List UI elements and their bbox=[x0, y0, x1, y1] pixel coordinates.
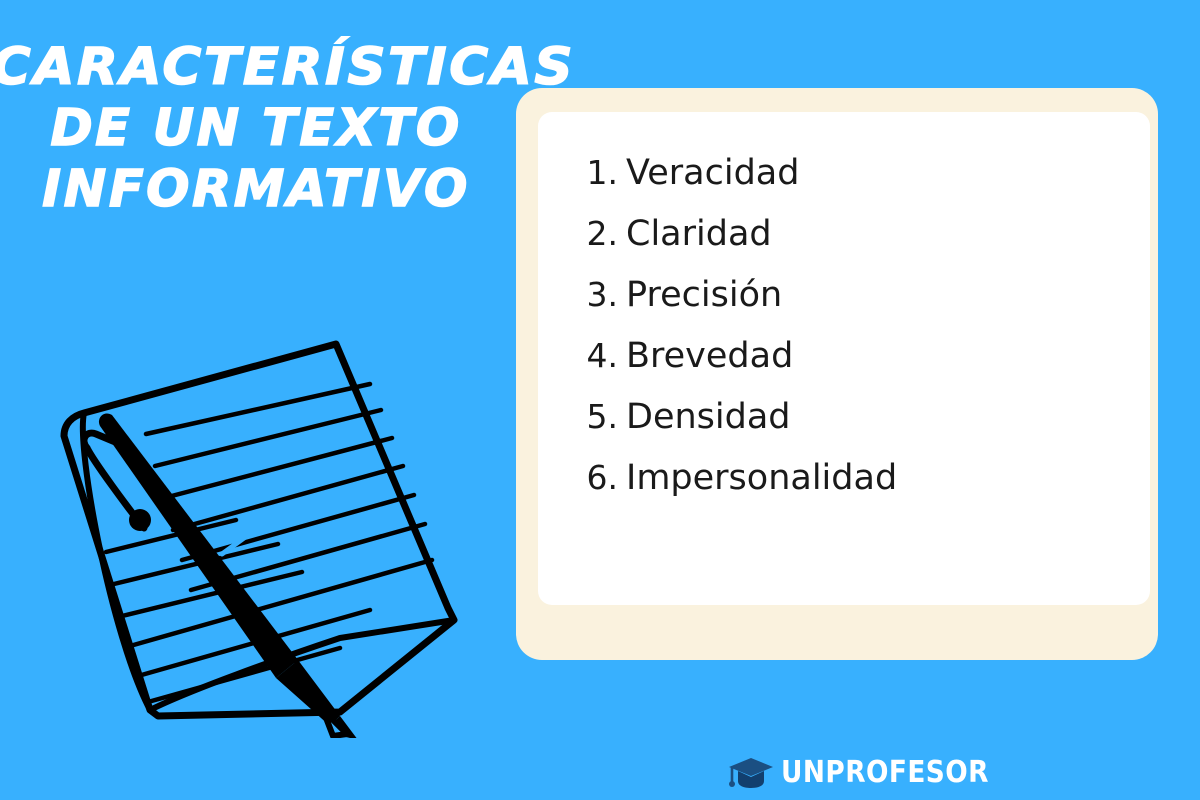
infographic-canvas: CARACTERÍSTICAS DE UN TEXTO INFORMATIVO … bbox=[0, 0, 1200, 800]
graduation-cap-icon bbox=[728, 756, 774, 790]
title-line-3: INFORMATIVO bbox=[0, 164, 512, 216]
features-card: 1. Veracidad 2. Claridad 3. Precisión 4.… bbox=[516, 88, 1158, 660]
list-item-label: Brevedad bbox=[626, 326, 793, 387]
features-card-inner-panel: 1. Veracidad 2. Claridad 3. Precisión 4.… bbox=[538, 112, 1150, 605]
list-item: 6. Impersonalidad bbox=[572, 447, 897, 508]
brand-logo: UNPROFESOR bbox=[728, 752, 1017, 794]
list-item-number: 6. bbox=[572, 447, 618, 508]
notebook-and-pen-icon bbox=[40, 338, 500, 738]
list-item: 5. Densidad bbox=[572, 386, 897, 447]
list-item-label: Impersonalidad bbox=[626, 448, 897, 509]
page-title: CARACTERÍSTICAS DE UN TEXTO INFORMATIVO bbox=[0, 42, 512, 216]
list-item: 1. Veracidad bbox=[572, 142, 897, 203]
characteristics-list: 1. Veracidad 2. Claridad 3. Precisión 4.… bbox=[572, 142, 897, 508]
list-item-number: 4. bbox=[572, 325, 618, 386]
list-item-label: Veracidad bbox=[626, 143, 799, 204]
list-item-label: Claridad bbox=[626, 204, 772, 265]
title-line-1: CARACTERÍSTICAS bbox=[0, 42, 522, 94]
list-item-number: 2. bbox=[572, 203, 618, 264]
list-item: 4. Brevedad bbox=[572, 325, 897, 386]
title-line-2: DE UN TEXTO bbox=[0, 103, 512, 155]
list-item-label: Precisión bbox=[626, 265, 782, 326]
list-item-label: Densidad bbox=[626, 387, 791, 448]
list-item: 2. Claridad bbox=[572, 203, 897, 264]
list-item-number: 1. bbox=[572, 142, 618, 203]
brand-name: UNPROFESOR bbox=[781, 758, 989, 788]
list-item-number: 3. bbox=[572, 264, 618, 325]
list-item: 3. Precisión bbox=[572, 264, 897, 325]
list-item-number: 5. bbox=[572, 386, 618, 447]
